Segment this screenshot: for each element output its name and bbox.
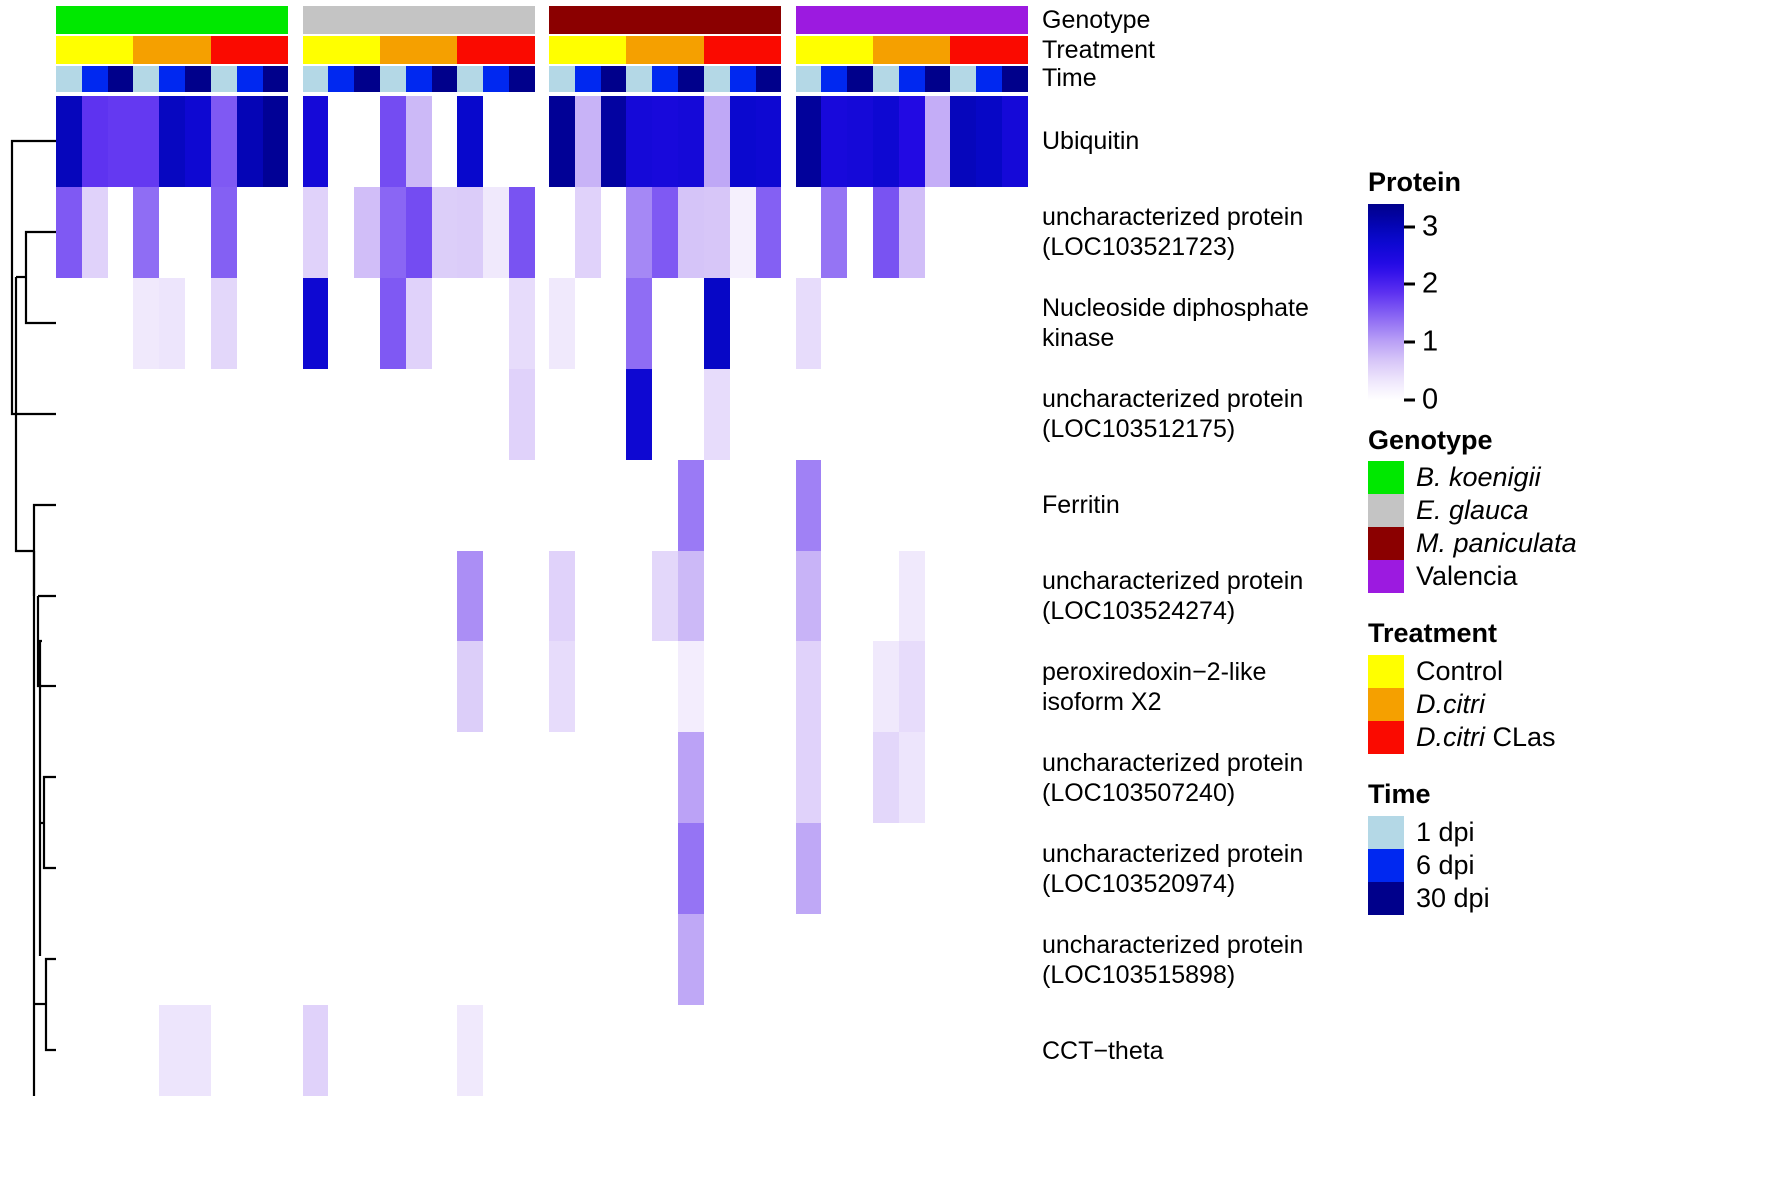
legend-item-time[interactable]: 6 dpi xyxy=(1368,849,1768,882)
treatment-cell xyxy=(159,36,185,64)
heatmap-cell xyxy=(704,1005,730,1096)
legend-time: Time 1 dpi6 dpi30 dpi xyxy=(1368,780,1768,915)
colorbar-tick-dash xyxy=(1404,398,1415,401)
heatmap-cell xyxy=(380,96,406,187)
heatmap-group xyxy=(56,551,289,642)
genotype-cell xyxy=(457,6,483,34)
heatmap-cell xyxy=(185,187,211,278)
heatmap-cell xyxy=(847,278,873,369)
annotation-gap xyxy=(289,66,303,92)
heatmap-row-label: uncharacterized protein (LOC103507240) xyxy=(1042,748,1303,808)
heatmap-cell xyxy=(652,278,678,369)
heatmap-cell xyxy=(56,369,82,460)
legend-item-time-label: 30 dpi xyxy=(1416,883,1490,914)
heatmap-cell xyxy=(950,914,976,1005)
legend-item-treatment[interactable]: D.citri CLas xyxy=(1368,721,1768,754)
heatmap-cell xyxy=(626,551,652,642)
legend-item-treatment-swatch xyxy=(1368,688,1404,721)
heatmap-cell xyxy=(821,96,847,187)
heatmap-cell xyxy=(82,278,108,369)
heatmap-group xyxy=(549,96,782,187)
legend-title-protein: Protein xyxy=(1368,168,1768,198)
time-cell xyxy=(328,66,354,92)
heatmap-cell xyxy=(549,187,575,278)
heatmap-cell xyxy=(976,187,1002,278)
heatmap-cell xyxy=(380,1005,406,1096)
annotation-block-genotype xyxy=(549,6,782,34)
heatmap-cell xyxy=(873,96,899,187)
heatmap-cell xyxy=(159,1005,185,1096)
heatmap-cell xyxy=(626,460,652,551)
heatmap-cell xyxy=(432,823,458,914)
heatmap-gap xyxy=(782,369,796,460)
heatmap-cell xyxy=(108,641,134,732)
heatmap-cell xyxy=(678,96,704,187)
heatmap-cell xyxy=(821,460,847,551)
heatmap-cell xyxy=(575,278,601,369)
heatmap-cell xyxy=(263,369,289,460)
annotation-block-time xyxy=(796,66,1029,92)
heatmap-cell xyxy=(56,914,82,1005)
legend-item-time-label: 6 dpi xyxy=(1416,850,1475,881)
heatmap-cell xyxy=(82,551,108,642)
heatmap-gap xyxy=(289,641,303,732)
heatmap-cell xyxy=(354,278,380,369)
heatmap-cell xyxy=(483,187,509,278)
heatmap-cell xyxy=(601,551,627,642)
time-cell xyxy=(899,66,925,92)
legend-item-genotype[interactable]: Valencia xyxy=(1368,560,1768,593)
time-cell xyxy=(847,66,873,92)
heatmap-gap xyxy=(782,823,796,914)
heatmap-cell xyxy=(847,1005,873,1096)
treatment-cell xyxy=(406,36,432,64)
heatmap-cell xyxy=(133,732,159,823)
genotype-cell xyxy=(237,6,263,34)
heatmap-cell xyxy=(303,641,329,732)
heatmap-cell xyxy=(328,187,354,278)
heatmap-cell xyxy=(237,551,263,642)
annotation-block-genotype xyxy=(796,6,1029,34)
heatmap-gap xyxy=(535,369,549,460)
genotype-cell xyxy=(704,6,730,34)
heatmap-cell xyxy=(211,278,237,369)
heatmap-cell xyxy=(575,823,601,914)
heatmap-cell xyxy=(821,641,847,732)
time-cell xyxy=(263,66,289,92)
heatmap-cell xyxy=(1002,187,1028,278)
annotation-block-treatment xyxy=(303,36,536,64)
heatmap-cell xyxy=(354,551,380,642)
colorbar-gradient xyxy=(1368,204,1404,400)
heatmap-cell xyxy=(133,914,159,1005)
heatmap-cell xyxy=(457,96,483,187)
time-cell xyxy=(704,66,730,92)
treatment-cell xyxy=(354,36,380,64)
heatmap-cell xyxy=(82,732,108,823)
treatment-cell xyxy=(756,36,782,64)
heatmap-cell xyxy=(108,732,134,823)
heatmap-row-label: Ferritin xyxy=(1042,490,1120,520)
annotation-block-time xyxy=(549,66,782,92)
treatment-cell xyxy=(380,36,406,64)
heatmap-cell xyxy=(847,914,873,1005)
heatmap-cell xyxy=(211,914,237,1005)
heatmap-cell xyxy=(730,460,756,551)
legend-item-treatment[interactable]: D.citri xyxy=(1368,688,1768,721)
heatmap-cell xyxy=(950,96,976,187)
heatmap-gap xyxy=(535,551,549,642)
heatmap-cell xyxy=(873,551,899,642)
heatmap-cell xyxy=(237,369,263,460)
heatmap-group xyxy=(796,551,1029,642)
colorbar-tick-dash xyxy=(1404,225,1415,228)
heatmap-cell xyxy=(601,96,627,187)
heatmap-cell xyxy=(108,369,134,460)
heatmap-cell xyxy=(626,914,652,1005)
heatmap-cell xyxy=(756,460,782,551)
time-cell xyxy=(730,66,756,92)
time-cell xyxy=(873,66,899,92)
treatment-cell xyxy=(899,36,925,64)
heatmap-cell xyxy=(185,914,211,1005)
heatmap-cell xyxy=(652,1005,678,1096)
heatmap-cell xyxy=(159,187,185,278)
heatmap-cell xyxy=(457,823,483,914)
heatmap-cell xyxy=(328,823,354,914)
heatmap-cell xyxy=(406,1005,432,1096)
heatmap-cell xyxy=(509,823,535,914)
heatmap-group xyxy=(549,732,782,823)
heatmap-cell xyxy=(756,551,782,642)
heatmap-cell xyxy=(303,187,329,278)
heatmap-cell xyxy=(328,1005,354,1096)
heatmap-cell xyxy=(821,914,847,1005)
heatmap-cell xyxy=(354,823,380,914)
heatmap-row xyxy=(56,1005,1028,1096)
heatmap-cell xyxy=(432,187,458,278)
genotype-cell xyxy=(626,6,652,34)
annotation-block-treatment xyxy=(796,36,1029,64)
heatmap-cell xyxy=(82,369,108,460)
heatmap-cell xyxy=(925,1005,951,1096)
heatmap-cell xyxy=(847,187,873,278)
heatmap-cell xyxy=(626,732,652,823)
heatmap-cell xyxy=(159,278,185,369)
heatmap-cell xyxy=(652,823,678,914)
heatmap-cell xyxy=(549,1005,575,1096)
heatmap-cell xyxy=(108,914,134,1005)
heatmap-cell xyxy=(847,641,873,732)
heatmap-cell xyxy=(756,96,782,187)
heatmap-cell xyxy=(432,1005,458,1096)
treatment-cell xyxy=(976,36,1002,64)
heatmap-cell xyxy=(601,460,627,551)
heatmap-cell xyxy=(303,914,329,1005)
colorbar-tick: 3 xyxy=(1404,212,1438,241)
heatmap-cell xyxy=(575,460,601,551)
heatmap-cell xyxy=(1002,551,1028,642)
heatmap-cell xyxy=(380,551,406,642)
heatmap-cell xyxy=(678,641,704,732)
heatmap-cell xyxy=(56,551,82,642)
colorbar-tick: 0 xyxy=(1404,385,1438,414)
heatmap-cell xyxy=(211,1005,237,1096)
colorbar-tick: 1 xyxy=(1404,328,1438,357)
genotype-cell xyxy=(652,6,678,34)
treatment-cell xyxy=(873,36,899,64)
heatmap-cell xyxy=(56,641,82,732)
legend-item-genotype[interactable]: M. paniculata xyxy=(1368,527,1768,560)
heatmap-cell xyxy=(56,187,82,278)
heatmap-cell xyxy=(756,1005,782,1096)
heatmap-cell xyxy=(457,551,483,642)
heatmap-cell xyxy=(303,369,329,460)
heatmap-cell xyxy=(704,641,730,732)
heatmap-group xyxy=(549,823,782,914)
heatmap-row-label: Nucleoside diphosphate kinase xyxy=(1042,293,1309,353)
heatmap-cell xyxy=(976,460,1002,551)
genotype-cell xyxy=(575,6,601,34)
heatmap-row xyxy=(56,823,1028,914)
treatment-cell xyxy=(1002,36,1028,64)
annotation-block-genotype xyxy=(56,6,289,34)
heatmap-cell xyxy=(950,460,976,551)
time-cell xyxy=(950,66,976,92)
heatmap-cell xyxy=(303,551,329,642)
heatmap-cell xyxy=(328,96,354,187)
legend-genotype: Genotype B. koenigiiE. glaucaM. panicula… xyxy=(1368,426,1768,594)
heatmap-cell xyxy=(796,278,822,369)
heatmap-gap xyxy=(782,732,796,823)
heatmap-cell xyxy=(509,278,535,369)
heatmap-cell xyxy=(380,187,406,278)
heatmap-cell xyxy=(950,369,976,460)
heatmap-cell xyxy=(899,551,925,642)
heatmap-cell xyxy=(821,551,847,642)
legend-item-time[interactable]: 30 dpi xyxy=(1368,882,1768,915)
heatmap-gap xyxy=(289,1005,303,1096)
heatmap-cell xyxy=(899,187,925,278)
heatmap-cell xyxy=(211,641,237,732)
treatment-cell xyxy=(509,36,535,64)
heatmap-cell xyxy=(976,551,1002,642)
heatmap-cell xyxy=(704,187,730,278)
heatmap-cell xyxy=(159,914,185,1005)
heatmap-cell xyxy=(821,732,847,823)
time-cell xyxy=(925,66,951,92)
legend-item-time[interactable]: 1 dpi xyxy=(1368,816,1768,849)
heatmap-group xyxy=(796,641,1029,732)
heatmap-cell xyxy=(303,96,329,187)
heatmap-cell xyxy=(1002,914,1028,1005)
heatmap-body xyxy=(56,96,1028,1096)
heatmap-cell xyxy=(601,1005,627,1096)
heatmap-gap xyxy=(289,369,303,460)
heatmap-cell xyxy=(549,732,575,823)
heatmap-gap xyxy=(535,96,549,187)
treatment-cell xyxy=(303,36,329,64)
heatmap-group xyxy=(56,1005,289,1096)
time-cell xyxy=(1002,66,1028,92)
heatmap-row xyxy=(56,551,1028,642)
annotation-gap xyxy=(535,36,549,64)
time-cell xyxy=(678,66,704,92)
legend-item-genotype-swatch xyxy=(1368,560,1404,593)
heatmap-row xyxy=(56,732,1028,823)
heatmap-row-label: Ubiquitin xyxy=(1042,126,1139,156)
legend-item-time-swatch xyxy=(1368,882,1404,915)
heatmap-cell xyxy=(704,823,730,914)
heatmap-cell xyxy=(950,823,976,914)
heatmap-cell xyxy=(211,96,237,187)
heatmap-cell xyxy=(432,460,458,551)
heatmap-gap xyxy=(289,551,303,642)
heatmap-cell xyxy=(406,187,432,278)
time-cell xyxy=(626,66,652,92)
heatmap-cell xyxy=(108,96,134,187)
legend-item-genotype[interactable]: B. koenigii xyxy=(1368,461,1768,494)
treatment-cell xyxy=(730,36,756,64)
genotype-cell xyxy=(108,6,134,34)
heatmap-group xyxy=(56,278,289,369)
heatmap-cell xyxy=(108,187,134,278)
heatmap-cell xyxy=(899,732,925,823)
treatment-cell xyxy=(821,36,847,64)
treatment-cell xyxy=(185,36,211,64)
genotype-cell xyxy=(976,6,1002,34)
legend-item-treatment[interactable]: Control xyxy=(1368,655,1768,688)
treatment-cell xyxy=(108,36,134,64)
heatmap-cell xyxy=(263,732,289,823)
heatmap-cell xyxy=(601,641,627,732)
annotation-gap xyxy=(782,6,796,34)
genotype-cell xyxy=(925,6,951,34)
time-cell xyxy=(821,66,847,92)
heatmap-group xyxy=(549,278,782,369)
heatmap-cell xyxy=(354,641,380,732)
heatmap-cell xyxy=(756,278,782,369)
heatmap-cell xyxy=(108,551,134,642)
heatmap-cell xyxy=(1002,96,1028,187)
annotation-block-genotype xyxy=(303,6,536,34)
heatmap-row-label: uncharacterized protein (LOC103515898) xyxy=(1042,930,1303,990)
heatmap-cell xyxy=(185,1005,211,1096)
heatmap-cell xyxy=(847,369,873,460)
heatmap-cell xyxy=(652,732,678,823)
heatmap-cell xyxy=(626,369,652,460)
treatment-cell xyxy=(549,36,575,64)
heatmap-cell xyxy=(133,187,159,278)
legend-item-genotype[interactable]: E. glauca xyxy=(1368,494,1768,527)
heatmap-cell xyxy=(899,278,925,369)
heatmap-cell xyxy=(652,187,678,278)
heatmap-cell xyxy=(1002,369,1028,460)
heatmap-cell xyxy=(133,551,159,642)
heatmap-cell xyxy=(925,732,951,823)
heatmap-gap xyxy=(782,1005,796,1096)
heatmap-cell xyxy=(950,278,976,369)
heatmap-cell xyxy=(549,96,575,187)
heatmap-cell xyxy=(406,641,432,732)
heatmap-gap xyxy=(782,914,796,1005)
genotype-cell xyxy=(159,6,185,34)
heatmap-gap xyxy=(535,187,549,278)
treatment-cell xyxy=(626,36,652,64)
heatmap-cell xyxy=(678,460,704,551)
heatmap-gap xyxy=(782,187,796,278)
heatmap-cell xyxy=(575,732,601,823)
legend-title-genotype: Genotype xyxy=(1368,426,1768,456)
heatmap-row-label: CCT−theta xyxy=(1042,1036,1164,1066)
treatment-cell xyxy=(925,36,951,64)
annotation-gap xyxy=(289,36,303,64)
legend-title-time: Time xyxy=(1368,780,1768,810)
colorbar-tick-label: 3 xyxy=(1422,212,1438,241)
heatmap-cell xyxy=(406,914,432,1005)
heatmap-cell xyxy=(873,823,899,914)
heatmap-cell xyxy=(796,641,822,732)
heatmap-cell xyxy=(380,641,406,732)
treatment-cell xyxy=(432,36,458,64)
heatmap-cell xyxy=(847,460,873,551)
heatmap-gap xyxy=(535,641,549,732)
heatmap-cell xyxy=(237,823,263,914)
heatmap-cell xyxy=(483,369,509,460)
heatmap-cell xyxy=(873,187,899,278)
heatmap-cell xyxy=(56,732,82,823)
heatmap-cell xyxy=(899,96,925,187)
heatmap-cell xyxy=(899,369,925,460)
heatmap-cell xyxy=(873,369,899,460)
time-cell xyxy=(56,66,82,92)
treatment-cell xyxy=(704,36,730,64)
heatmap-row xyxy=(56,187,1028,278)
heatmap-cell xyxy=(185,278,211,369)
heatmap-gap xyxy=(782,460,796,551)
heatmap-cell xyxy=(354,187,380,278)
heatmap-cell xyxy=(796,460,822,551)
legend-panel: Protein 3210 Genotype B. koenigiiE. glau… xyxy=(1368,168,1768,941)
heatmap-cell xyxy=(211,732,237,823)
time-cell xyxy=(796,66,822,92)
time-cell xyxy=(432,66,458,92)
heatmap-cell xyxy=(82,823,108,914)
heatmap-cell xyxy=(976,278,1002,369)
legend-item-treatment-label: Control xyxy=(1416,656,1503,687)
annotation-label-treatment: Treatment xyxy=(1042,38,1155,63)
heatmap-gap xyxy=(289,732,303,823)
heatmap-cell xyxy=(601,278,627,369)
heatmap-cell xyxy=(457,187,483,278)
heatmap-cell xyxy=(483,1005,509,1096)
heatmap-cell xyxy=(950,551,976,642)
genotype-cell xyxy=(1002,6,1028,34)
heatmap-gap xyxy=(535,460,549,551)
heatmap-gap xyxy=(535,1005,549,1096)
heatmap-figure: Genotype Treatment Time Ubiquitinunchara… xyxy=(0,0,1772,1190)
heatmap-cell xyxy=(108,460,134,551)
heatmap-cell xyxy=(108,823,134,914)
genotype-cell xyxy=(56,6,82,34)
heatmap-cell xyxy=(432,732,458,823)
genotype-cell xyxy=(432,6,458,34)
heatmap-cell xyxy=(509,369,535,460)
legend-protein: Protein 3210 xyxy=(1368,168,1768,400)
heatmap-gap xyxy=(535,823,549,914)
heatmap-cell xyxy=(678,551,704,642)
heatmap-cell xyxy=(185,460,211,551)
